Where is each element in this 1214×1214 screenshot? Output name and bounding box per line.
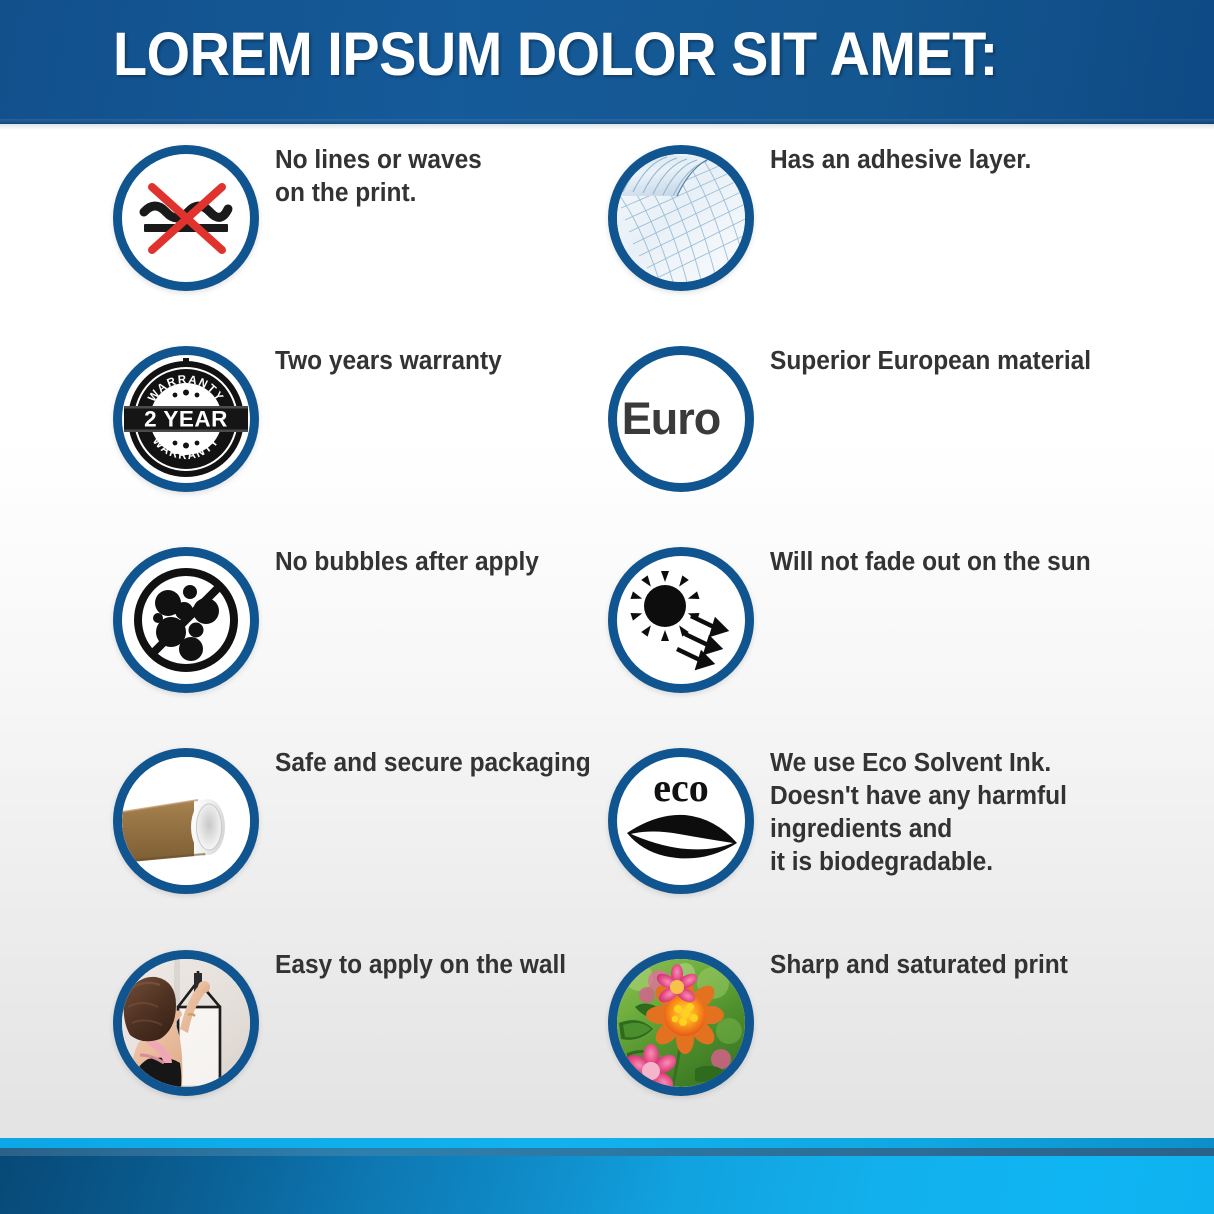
adhesive-film-glyph — [615, 152, 747, 284]
woman-applying-decal-glyph — [122, 959, 250, 1087]
no-bubbles-glyph — [122, 556, 250, 684]
shipping-tube-glyph — [122, 757, 250, 885]
feature-label: Sharp and saturated print — [770, 949, 1125, 982]
eco-leaf-icon: eco — [608, 748, 754, 894]
sun-rays-icon — [608, 547, 754, 693]
zinnia-flowers-photo — [608, 950, 754, 1096]
infographic-page: LOREM IPSUM DOLOR SIT AMET: No lines o — [0, 0, 1214, 1214]
no-bubbles-icon — [113, 547, 259, 693]
sun-rays-glyph — [617, 556, 745, 684]
feature-label: Superior European material — [770, 345, 1125, 378]
warranty-seal-glyph: WARRANTY WARRANTY — [121, 354, 251, 484]
footer-banner — [0, 1138, 1214, 1214]
feature-label: Will not fade out on the sun — [770, 546, 1125, 579]
feature-label: No lines or waves on the print. — [275, 144, 592, 210]
adhesive-film-roll-icon — [608, 145, 754, 291]
feature-label: Safe and secure packaging — [275, 747, 630, 780]
zinnia-flowers-glyph — [617, 959, 745, 1087]
eco-leaf-glyph — [617, 757, 745, 885]
woman-applying-decal-photo — [113, 950, 259, 1096]
feature-label: Easy to apply on the wall — [275, 949, 630, 982]
shipping-tube-icon — [113, 748, 259, 894]
footer-gradient — [0, 1156, 1214, 1214]
footer-shadow-line — [0, 1148, 1214, 1156]
feature-row: WARRANTY WARRANTY — [0, 331, 1214, 532]
feature-label: Two years warranty — [275, 345, 592, 378]
footer-accent-line — [0, 1138, 1214, 1148]
header-banner: LOREM IPSUM DOLOR SIT AMET: — [0, 0, 1214, 124]
warranty-center-text: 2 YEAR — [144, 407, 228, 432]
no-waves-glyph — [122, 154, 250, 282]
feature-grid: No lines or waves on the print. — [0, 130, 1214, 1133]
feature-row: Safe and secure packaging eco We use Eco… — [0, 733, 1214, 935]
euro-badge-text: Euro — [617, 393, 745, 445]
feature-label: Has an adhesive layer. — [770, 144, 1087, 177]
feature-row: No bubbles after apply — [0, 532, 1214, 733]
warranty-seal-icon: WARRANTY WARRANTY — [113, 346, 259, 492]
feature-label: We use Eco Solvent Ink. Doesn't have any… — [770, 747, 1125, 879]
euro-icon: Euro — [608, 346, 754, 492]
feature-row: No lines or waves on the print. — [0, 130, 1214, 331]
page-title: LOREM IPSUM DOLOR SIT AMET: — [113, 18, 998, 90]
no-waves-icon — [113, 145, 259, 291]
feature-row: Easy to apply on the wall — [0, 935, 1214, 1133]
feature-label: No bubbles after apply — [275, 546, 592, 579]
